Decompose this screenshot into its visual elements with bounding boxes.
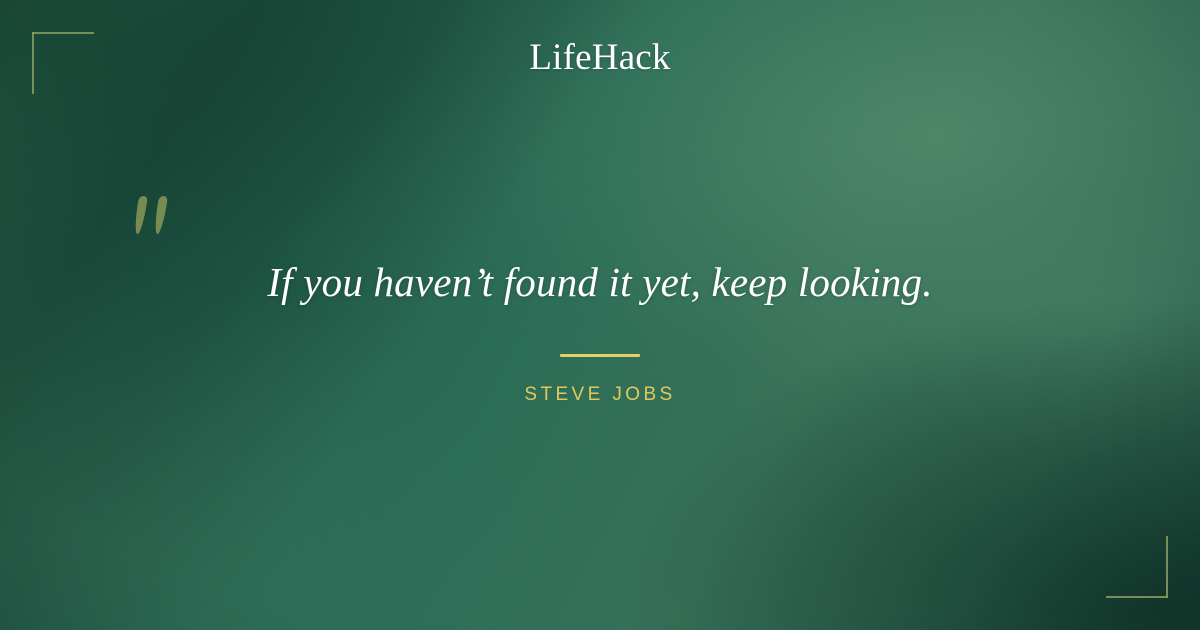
- corner-bracket-right-line: [1166, 536, 1168, 598]
- brand-logo: LifeHack: [0, 39, 1200, 76]
- quote-mark-stroke-right: [153, 196, 168, 234]
- corner-bracket-bottom-right-icon: [1106, 536, 1168, 598]
- quote-mark-stroke-left: [133, 196, 148, 234]
- quote-card: LifeHack If you haven’t found it yet, ke…: [0, 0, 1200, 630]
- quote-mark-icon: [132, 196, 184, 246]
- quote-block: If you haven’t found it yet, keep lookin…: [0, 258, 1200, 406]
- quote-author: STEVE JOBS: [0, 384, 1200, 406]
- corner-bracket-bottom-line: [1106, 596, 1168, 598]
- quote-text: If you haven’t found it yet, keep lookin…: [100, 258, 1100, 306]
- quote-divider: [560, 354, 640, 357]
- corner-bracket-top-line: [32, 32, 94, 34]
